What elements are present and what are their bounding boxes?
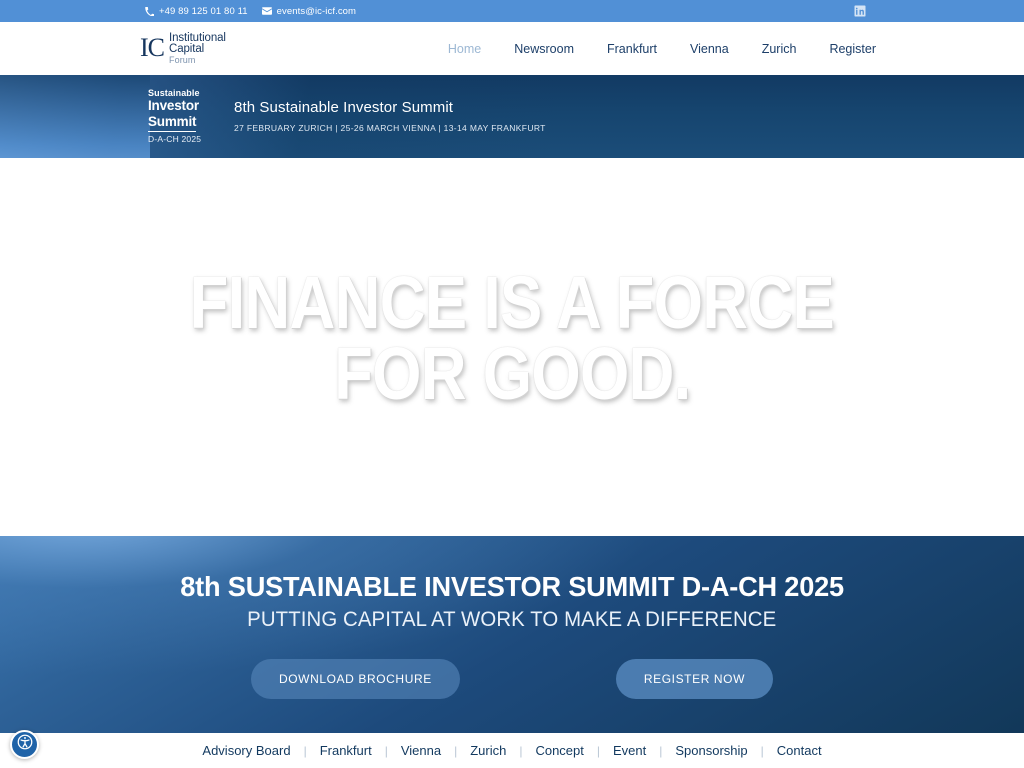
- footer-link-frankfurt[interactable]: Frankfurt: [307, 743, 385, 758]
- hero-section: FINANCE IS A FORCE FOR GOOD.: [0, 158, 1024, 536]
- event-banner-inner: Sustainable Investor Summit D-A-CH 2025 …: [148, 89, 546, 144]
- topbar-social-group: [853, 5, 1014, 18]
- summit-logo: Sustainable Investor Summit D-A-CH 2025: [148, 89, 210, 144]
- footer-link-event[interactable]: Event: [600, 743, 659, 758]
- footer-link-vienna[interactable]: Vienna: [388, 743, 454, 758]
- cta-subtitle: PUTTING CAPITAL AT WORK TO MAKE A DIFFER…: [247, 608, 776, 632]
- event-banner-title: 8th Sustainable Investor Summit: [234, 99, 546, 116]
- accessibility-icon: [16, 733, 34, 756]
- main-navigation: Home Newsroom Frankfurt Vienna Zurich Re…: [448, 42, 876, 56]
- footer-link-sponsorship[interactable]: Sponsorship: [662, 743, 760, 758]
- footer-link-advisory-board[interactable]: Advisory Board: [189, 743, 303, 758]
- top-utility-bar: +49 89 125 01 80 11 events@ic-icf.com: [0, 0, 1024, 22]
- register-now-button[interactable]: REGISTER NOW: [616, 659, 773, 699]
- email-address: events@ic-icf.com: [277, 6, 356, 17]
- phone-icon: [145, 7, 154, 16]
- cta-title: 8th SUSTAINABLE INVESTOR SUMMIT D-A-CH 2…: [180, 571, 844, 603]
- phone-link[interactable]: +49 89 125 01 80 11: [145, 6, 248, 17]
- event-banner-text: 8th Sustainable Investor Summit 27 FEBRU…: [234, 99, 546, 133]
- logo-wordmark: Institutional Capital Forum: [169, 32, 226, 66]
- event-banner-dates: 27 FEBRUARY ZURICH | 25-26 MARCH VIENNA …: [234, 123, 546, 133]
- download-brochure-button[interactable]: DOWNLOAD BROCHURE: [251, 659, 460, 699]
- envelope-icon: [262, 7, 272, 15]
- site-logo[interactable]: IC Institutional Capital Forum: [140, 32, 226, 66]
- summit-logo-dach: D-A-CH 2025: [148, 135, 210, 144]
- cta-button-group: DOWNLOAD BROCHURE REGISTER NOW: [251, 659, 773, 699]
- nav-item-vienna[interactable]: Vienna: [690, 42, 729, 56]
- logo-line-forum: Forum: [169, 56, 226, 65]
- summit-logo-summit: Summit: [148, 115, 196, 132]
- hero-headline-line1: FINANCE IS A FORCE: [190, 267, 835, 338]
- nav-item-home[interactable]: Home: [448, 42, 481, 56]
- summit-logo-investor: Investor: [148, 99, 210, 114]
- footer-link-contact[interactable]: Contact: [764, 743, 835, 758]
- footer-link-concept[interactable]: Concept: [522, 743, 596, 758]
- email-link[interactable]: events@ic-icf.com: [262, 6, 356, 17]
- topbar-contact-group: +49 89 125 01 80 11 events@ic-icf.com: [145, 6, 356, 17]
- hero-headline-line2: FOR GOOD.: [334, 338, 690, 409]
- linkedin-icon[interactable]: [853, 5, 866, 18]
- cta-section: 8th SUSTAINABLE INVESTOR SUMMIT D-A-CH 2…: [0, 536, 1024, 733]
- accessibility-widget-button[interactable]: [10, 730, 39, 759]
- footer-navigation: Advisory Board | Frankfurt | Vienna | Zu…: [0, 733, 1024, 768]
- nav-item-newsroom[interactable]: Newsroom: [514, 42, 574, 56]
- logo-mark-ic: IC: [140, 35, 164, 61]
- site-header: IC Institutional Capital Forum Home News…: [0, 22, 1024, 75]
- nav-item-frankfurt[interactable]: Frankfurt: [607, 42, 657, 56]
- nav-item-zurich[interactable]: Zurich: [762, 42, 797, 56]
- event-banner: Sustainable Investor Summit D-A-CH 2025 …: [0, 75, 1024, 158]
- nav-item-register[interactable]: Register: [829, 42, 876, 56]
- footer-link-zurich[interactable]: Zurich: [457, 743, 519, 758]
- phone-number: +49 89 125 01 80 11: [159, 6, 248, 17]
